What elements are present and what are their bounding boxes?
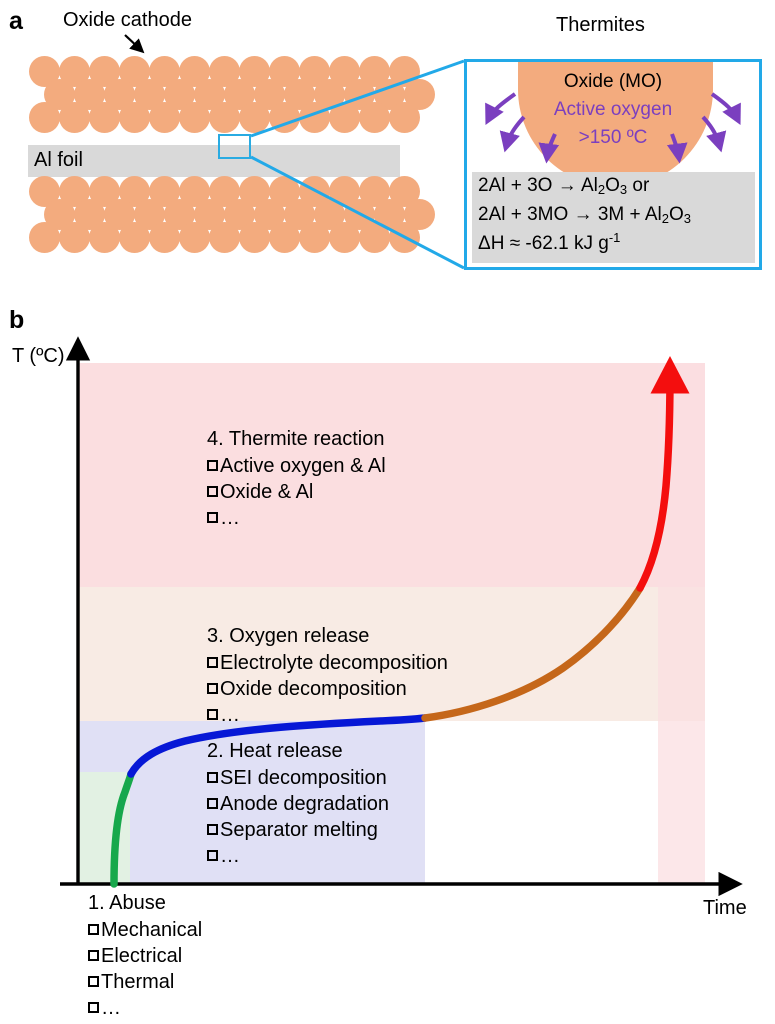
stage-3-text-block: 3. Oxygen release Electrolyte decomposit…	[207, 623, 448, 728]
stage-4-item-label: …	[220, 507, 240, 529]
stage-4-item: Active oxygen & Al	[207, 453, 386, 479]
stage-1-item-label: Mechanical	[101, 919, 202, 941]
stage-2-title: 2. Heat release	[207, 738, 389, 764]
stage-2-item-label: SEI decomposition	[220, 767, 387, 789]
stage-1-item-label: Electrical	[101, 945, 182, 967]
stage-4-title: 4. Thermite reaction	[207, 426, 386, 452]
panel-a-thermite-schematic: a Oxide cathode Al foil Thermites Oxide …	[0, 0, 775, 300]
curve-segment-stage-3	[425, 588, 640, 718]
reaction-equation-1: 2Al + 3O → Al2O3 or	[478, 175, 649, 197]
stage-1-item: …	[88, 995, 202, 1021]
stage-2-item: …	[207, 843, 389, 869]
stage-4-item-label: Oxide & Al	[220, 481, 313, 503]
bullet-square-icon	[207, 460, 218, 471]
bullet-square-icon	[207, 486, 218, 497]
stage-1-item: Electrical	[88, 943, 202, 969]
stage-2-item: Anode degradation	[207, 791, 389, 817]
stage-2-item: Separator melting	[207, 817, 389, 843]
stage-3-item: Electrolyte decomposition	[207, 650, 448, 676]
active-oxygen-release-arrows-icon	[467, 62, 759, 182]
stage-4-item-label: Active oxygen & Al	[220, 455, 386, 477]
bullet-square-icon	[207, 824, 218, 835]
bullet-square-icon	[88, 1002, 99, 1013]
stage-3-title: 3. Oxygen release	[207, 623, 448, 649]
stage-1-text-block: 1. Abuse Mechanical Electrical Thermal …	[88, 890, 202, 1021]
bullet-square-icon	[207, 683, 218, 694]
reaction-1-tail: or	[627, 175, 649, 196]
stage-2-item-label: Anode degradation	[220, 793, 389, 815]
reaction-1-sub2: 3	[620, 182, 627, 197]
bullet-square-icon	[88, 950, 99, 961]
thermites-inset-panel: Oxide (MO) Active oxygen >150 ºC 2Al + 3…	[464, 59, 762, 270]
stage-1-item-label: …	[101, 997, 121, 1019]
stage-4-item: Oxide & Al	[207, 479, 386, 505]
bullet-square-icon	[88, 924, 99, 935]
bullet-square-icon	[88, 976, 99, 987]
stage-4-text-block: 4. Thermite reaction Active oxygen & Al …	[207, 426, 386, 531]
bullet-square-icon	[207, 798, 218, 809]
reaction-1-text: 2Al + 3O → Al	[478, 175, 598, 196]
reaction-2-sub: 2	[662, 211, 669, 226]
reaction-equation-2: 2Al + 3MO → 3M + Al2O3	[478, 204, 691, 226]
stage-2-item: SEI decomposition	[207, 765, 389, 791]
stage-2-item-label: Separator melting	[220, 819, 378, 841]
stage-3-item-label: Oxide decomposition	[220, 678, 407, 700]
panel-b-thermal-runaway-chart: b T (ºC) Time 4. Thermite reaction A	[0, 300, 775, 1024]
curve-segment-stage-1	[114, 774, 131, 884]
stage-1-title: 1. Abuse	[88, 890, 202, 916]
bullet-square-icon	[207, 512, 218, 523]
enthalpy-text: ΔH ≈ -62.1 kJ g	[478, 233, 609, 254]
bullet-square-icon	[207, 850, 218, 861]
reaction-2-sub2: 3	[684, 211, 691, 226]
thermite-reaction-equations-box: 2Al + 3O → Al2O3 or 2Al + 3MO → 3M + Al2…	[472, 172, 755, 263]
reaction-2-mid: O	[669, 204, 684, 225]
stage-2-item-label: …	[220, 845, 240, 867]
stage-2-text-block: 2. Heat release SEI decomposition Anode …	[207, 738, 389, 869]
thermites-title: Thermites	[556, 14, 645, 37]
bullet-square-icon	[207, 657, 218, 668]
bullet-square-icon	[207, 772, 218, 783]
stage-3-item: Oxide decomposition	[207, 676, 448, 702]
enthalpy-sup: -1	[609, 230, 621, 245]
bullet-square-icon	[207, 709, 218, 720]
stage-3-item-label: …	[220, 704, 240, 726]
reaction-1-mid: O	[605, 175, 620, 196]
reaction-2-text: 2Al + 3MO → 3M + Al	[478, 204, 662, 225]
stage-1-item-label: Thermal	[101, 971, 174, 993]
stage-1-item: Mechanical	[88, 917, 202, 943]
stage-3-item-label: Electrolyte decomposition	[220, 652, 448, 674]
curve-segment-stage-4	[640, 374, 670, 588]
stage-3-item: …	[207, 702, 448, 728]
enthalpy-value: ΔH ≈ -62.1 kJ g-1	[478, 233, 620, 255]
stage-4-item: …	[207, 505, 386, 531]
reaction-1-sub: 2	[598, 182, 605, 197]
stage-1-item: Thermal	[88, 969, 202, 995]
